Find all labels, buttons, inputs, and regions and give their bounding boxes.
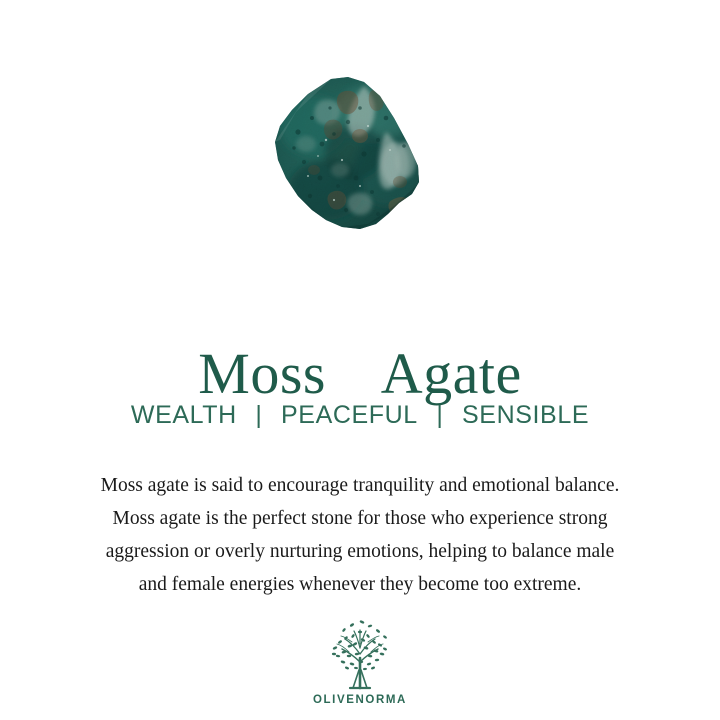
moss-agate-stone-image (268, 74, 424, 232)
keyword-separator: | (244, 400, 273, 430)
description-line: aggression or overly nurturing emotions,… (0, 535, 720, 568)
product-info-card: Moss Agate WEALTH | PEACEFUL | SENSIBLE … (0, 0, 720, 720)
moss-agate-stone-photo-icon (268, 74, 424, 232)
page-title: Moss Agate (0, 342, 720, 406)
keyword-separator: | (425, 400, 454, 430)
olive-tree-icon (322, 618, 398, 690)
keyword-sensible: SENSIBLE (462, 400, 589, 430)
brand-wordmark: OLIVENORMA (313, 694, 407, 706)
keyword-wealth: WEALTH (131, 400, 237, 430)
description-line: Moss agate is said to encourage tranquil… (0, 469, 720, 502)
product-description: Moss agate is said to encourage tranquil… (0, 469, 720, 601)
keyword-list: WEALTH | PEACEFUL | SENSIBLE (0, 400, 720, 430)
keyword-peaceful: PEACEFUL (281, 400, 418, 430)
description-line: and female energies whenever they become… (0, 568, 720, 601)
brand-logo: OLIVENORMA (0, 618, 720, 706)
description-line: Moss agate is the perfect stone for thos… (0, 502, 720, 535)
